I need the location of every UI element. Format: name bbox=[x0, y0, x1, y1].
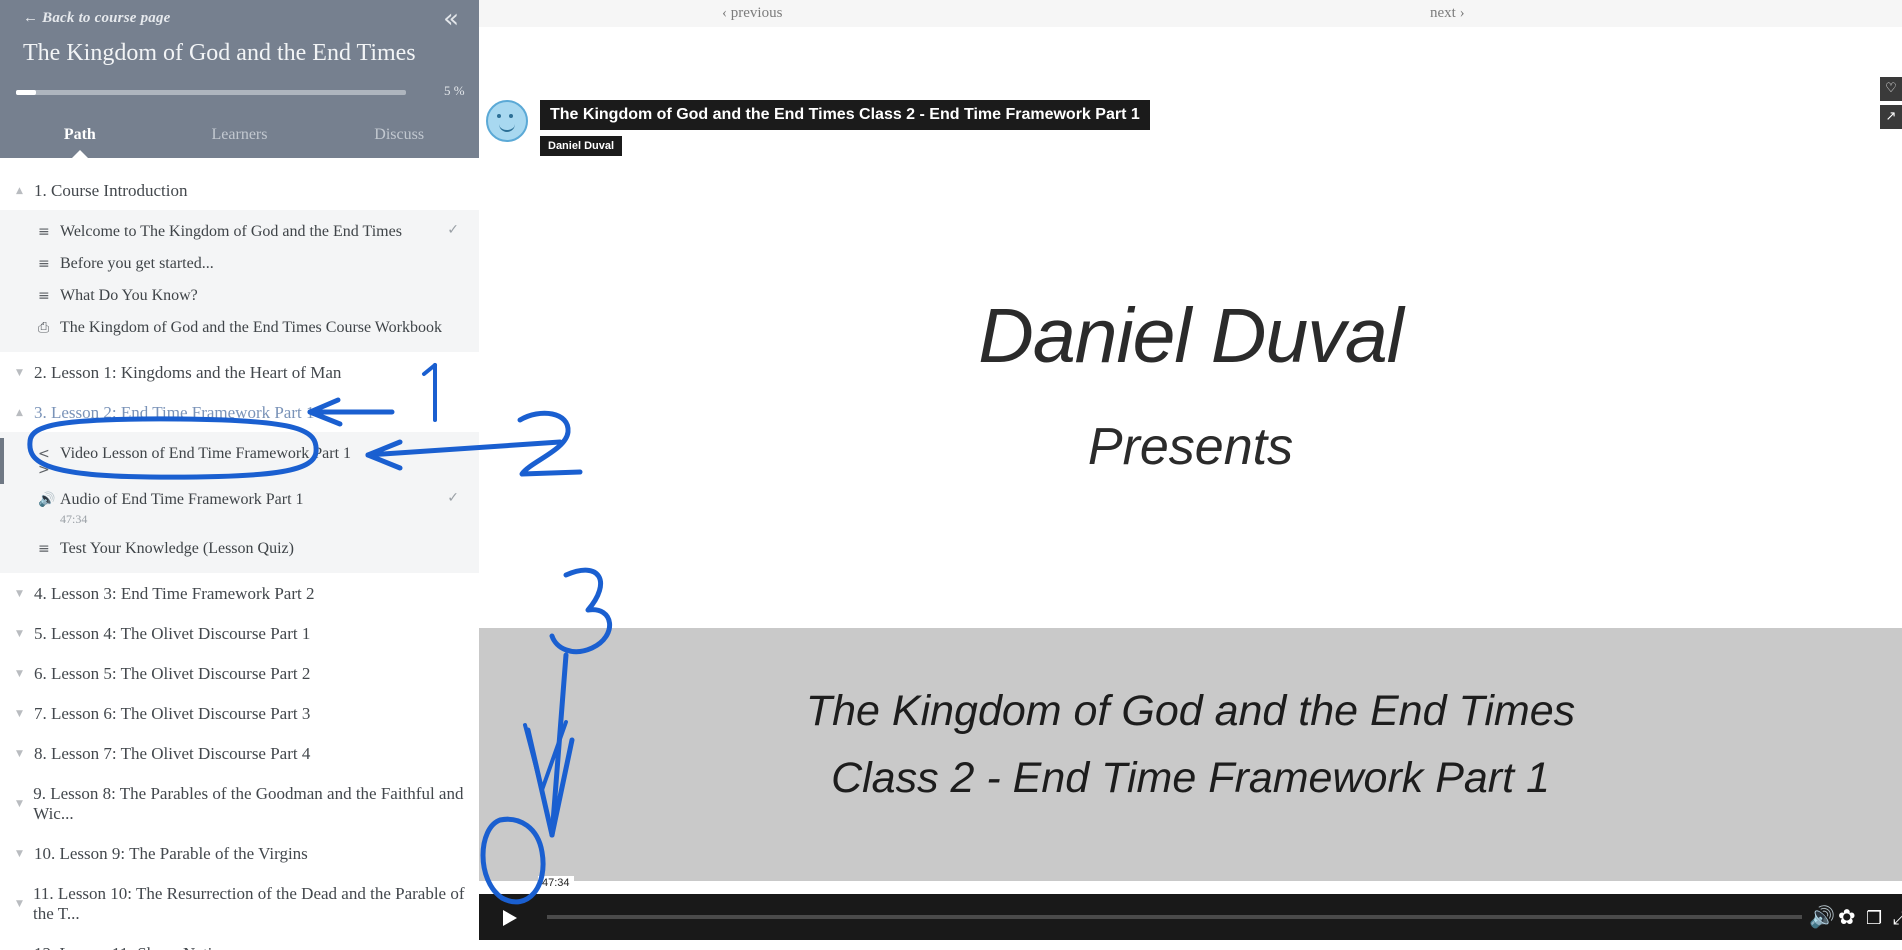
sidebar-header: ← Back to course page « The Kingdom of G… bbox=[0, 0, 479, 158]
audio-icon: 🔊 bbox=[38, 492, 60, 508]
completed-check-icon: ✓ bbox=[447, 490, 459, 506]
lesson-body: The Kingdom of God and the End Times Cou… bbox=[60, 318, 469, 338]
fullscreen-icon[interactable]: ⤢ bbox=[1893, 907, 1902, 931]
slide-title-line-1: The Kingdom of God and the End Times bbox=[479, 687, 1902, 736]
course-section: ▼11. Lesson 10: The Resurrection of the … bbox=[0, 875, 479, 933]
course-section: ▼5. Lesson 4: The Olivet Discourse Part … bbox=[0, 615, 479, 653]
chevron-down-icon[interactable]: ▼ bbox=[16, 630, 29, 639]
slide-title-line-2: Class 2 - End Time Framework Part 1 bbox=[479, 754, 1902, 803]
section-title: 10. Lesson 9: The Parable of the Virgins bbox=[34, 844, 308, 864]
lesson-item[interactable]: ≡Before you get started... bbox=[0, 248, 479, 280]
section-header[interactable]: ▼6. Lesson 5: The Olivet Discourse Part … bbox=[0, 655, 479, 693]
section-title: 9. Lesson 8: The Parables of the Goodman… bbox=[33, 784, 479, 824]
section-title: 6. Lesson 5: The Olivet Discourse Part 2 bbox=[34, 664, 310, 684]
course-section: ▼4. Lesson 3: End Time Framework Part 2 bbox=[0, 575, 479, 613]
lesson-title: What Do You Know? bbox=[60, 286, 469, 306]
lesson-body: What Do You Know? bbox=[60, 286, 469, 306]
video-title-overlay: The Kingdom of God and the End Times Cla… bbox=[486, 100, 1150, 156]
chevron-up-icon[interactable]: ▲ bbox=[16, 187, 29, 196]
section-title: 12. Lesson 11: Sheep Nations bbox=[34, 944, 236, 950]
lesson-body: Welcome to The Kingdom of God and the En… bbox=[60, 222, 469, 242]
page-title: The Kingdom of God and the End Times bbox=[23, 40, 429, 67]
tab-learners[interactable]: Learners bbox=[160, 126, 320, 146]
section-title: 7. Lesson 6: The Olivet Discourse Part 3 bbox=[34, 704, 310, 724]
presenter-subtitle-text: Presents bbox=[479, 417, 1902, 477]
video-player[interactable]: Daniel Duval Presents The Kingdom of God… bbox=[479, 27, 1902, 950]
section-header[interactable]: ▼4. Lesson 3: End Time Framework Part 2 bbox=[0, 575, 479, 613]
previous-lesson-link[interactable]: ‹ previous bbox=[722, 5, 782, 22]
lesson-title: Before you get started... bbox=[60, 254, 469, 274]
video-overlay-author[interactable]: Daniel Duval bbox=[540, 136, 622, 156]
lesson-list: < >Video Lesson of End Time Framework Pa… bbox=[0, 432, 479, 573]
lesson-body: Before you get started... bbox=[60, 254, 469, 274]
lesson-body: Video Lesson of End Time Framework Part … bbox=[60, 444, 469, 464]
section-header[interactable]: ▲1. Course Introduction bbox=[0, 172, 479, 210]
chevron-down-icon[interactable]: ▼ bbox=[16, 590, 29, 599]
course-section: ▲3. Lesson 2: End Time Framework Part 1<… bbox=[0, 394, 479, 573]
section-title: 2. Lesson 1: Kingdoms and the Heart of M… bbox=[34, 363, 341, 383]
course-outline[interactable]: ▲1. Course Introduction≡Welcome to The K… bbox=[0, 158, 479, 950]
chevron-down-icon[interactable]: ▼ bbox=[16, 670, 29, 679]
course-section: ▲1. Course Introduction≡Welcome to The K… bbox=[0, 172, 479, 352]
lesson-item[interactable]: < >Video Lesson of End Time Framework Pa… bbox=[0, 438, 479, 484]
picture-in-picture-icon[interactable]: ❐ bbox=[1866, 907, 1882, 931]
lesson-item[interactable]: ≡Test Your Knowledge (Lesson Quiz) bbox=[0, 533, 479, 565]
lesson-navigation-bar: ‹ previous next › bbox=[479, 0, 1902, 28]
list-icon: ≡ bbox=[38, 224, 60, 240]
lesson-item[interactable]: ≡Welcome to The Kingdom of God and the E… bbox=[0, 216, 479, 248]
section-title: 11. Lesson 10: The Resurrection of the D… bbox=[33, 884, 479, 924]
section-header[interactable]: ▼8. Lesson 7: The Olivet Discourse Part … bbox=[0, 735, 479, 773]
video-controls-bar: 47:34 🔊 ✿ ❐ ⤢ vimeo bbox=[479, 894, 1902, 940]
presenter-name-text: Daniel Duval bbox=[479, 292, 1902, 381]
avatar bbox=[486, 100, 528, 142]
video-overlay-title[interactable]: The Kingdom of God and the End Times Cla… bbox=[540, 100, 1150, 130]
section-header[interactable]: ▼5. Lesson 4: The Olivet Discourse Part … bbox=[0, 615, 479, 653]
lesson-title: Test Your Knowledge (Lesson Quiz) bbox=[60, 539, 469, 559]
lesson-title: Video Lesson of End Time Framework Part … bbox=[60, 444, 469, 464]
lesson-item[interactable]: ⎙The Kingdom of God and the End Times Co… bbox=[0, 312, 479, 344]
collapse-sidebar-icon[interactable]: « bbox=[443, 6, 459, 32]
time-tooltip: 47:34 bbox=[538, 876, 574, 890]
lesson-title: The Kingdom of God and the End Times Cou… bbox=[60, 318, 469, 338]
course-sidebar: ← Back to course page « The Kingdom of G… bbox=[0, 0, 479, 950]
chevron-down-icon[interactable]: ▼ bbox=[16, 710, 29, 719]
section-header[interactable]: ▼10. Lesson 9: The Parable of the Virgin… bbox=[0, 835, 479, 873]
course-section: ▼9. Lesson 8: The Parables of the Goodma… bbox=[0, 775, 479, 833]
section-title: 8. Lesson 7: The Olivet Discourse Part 4 bbox=[34, 744, 310, 764]
lesson-list: ≡Welcome to The Kingdom of God and the E… bbox=[0, 210, 479, 352]
section-title: 4. Lesson 3: End Time Framework Part 2 bbox=[34, 584, 315, 604]
course-section: ▼7. Lesson 6: The Olivet Discourse Part … bbox=[0, 695, 479, 733]
like-button[interactable]: ♡ bbox=[1880, 77, 1902, 101]
lesson-duration: 47:34 bbox=[60, 512, 469, 527]
course-section: ▼8. Lesson 7: The Olivet Discourse Part … bbox=[0, 735, 479, 773]
list-icon: ≡ bbox=[38, 256, 60, 272]
seek-bar[interactable] bbox=[547, 915, 1802, 919]
chevron-down-icon[interactable]: ▼ bbox=[16, 750, 29, 759]
lesson-title: Welcome to The Kingdom of God and the En… bbox=[60, 222, 469, 242]
lesson-body: Test Your Knowledge (Lesson Quiz) bbox=[60, 539, 469, 559]
lesson-item[interactable]: ≡What Do You Know? bbox=[0, 280, 479, 312]
section-title: 1. Course Introduction bbox=[34, 181, 187, 201]
chevron-up-icon[interactable]: ▲ bbox=[16, 409, 29, 418]
pdf-icon: ⎙ bbox=[38, 320, 60, 336]
chevron-down-icon[interactable]: ▼ bbox=[16, 900, 28, 909]
next-lesson-link[interactable]: next › bbox=[1430, 5, 1465, 22]
play-icon bbox=[503, 910, 517, 926]
course-section: ▼12. Lesson 11: Sheep Nations bbox=[0, 935, 479, 950]
chevron-down-icon[interactable]: ▼ bbox=[16, 800, 28, 809]
back-to-course-link[interactable]: ← Back to course page bbox=[23, 10, 171, 27]
section-header[interactable]: ▼2. Lesson 1: Kingdoms and the Heart of … bbox=[0, 354, 479, 392]
section-header[interactable]: ▼7. Lesson 6: The Olivet Discourse Part … bbox=[0, 695, 479, 733]
lesson-title: Audio of End Time Framework Part 1 bbox=[60, 490, 469, 510]
code-icon: < > bbox=[38, 446, 60, 478]
share-button[interactable]: ↗ bbox=[1880, 105, 1902, 129]
sidebar-tabs: PathLearnersDiscuss bbox=[0, 114, 479, 158]
play-button[interactable] bbox=[479, 894, 541, 940]
tab-path[interactable]: Path bbox=[0, 126, 160, 146]
course-section: ▼2. Lesson 1: Kingdoms and the Heart of … bbox=[0, 354, 479, 392]
section-header[interactable]: ▼12. Lesson 11: Sheep Nations bbox=[0, 935, 479, 950]
chevron-down-icon[interactable]: ▼ bbox=[16, 369, 29, 378]
progress-bar bbox=[16, 90, 406, 95]
chevron-down-icon[interactable]: ▼ bbox=[16, 850, 29, 859]
section-header[interactable]: ▲3. Lesson 2: End Time Framework Part 1 bbox=[0, 394, 479, 432]
progress-bar-fill bbox=[16, 90, 36, 95]
section-title: 3. Lesson 2: End Time Framework Part 1 bbox=[34, 403, 315, 423]
section-header[interactable]: ▼9. Lesson 8: The Parables of the Goodma… bbox=[0, 775, 479, 833]
course-section: ▼6. Lesson 5: The Olivet Discourse Part … bbox=[0, 655, 479, 693]
section-header[interactable]: ▼11. Lesson 10: The Resurrection of the … bbox=[0, 875, 479, 933]
gear-icon[interactable]: ✿ bbox=[1838, 905, 1856, 929]
progress-percent-label: 5 % bbox=[444, 83, 465, 99]
lesson-item[interactable]: 🔊Audio of End Time Framework Part 147:34… bbox=[0, 484, 479, 533]
tab-discuss[interactable]: Discuss bbox=[319, 126, 479, 146]
volume-icon[interactable]: 🔊 bbox=[1809, 905, 1835, 929]
lesson-body: Audio of End Time Framework Part 147:34 bbox=[60, 490, 469, 527]
course-section: ▼10. Lesson 9: The Parable of the Virgin… bbox=[0, 835, 479, 873]
completed-check-icon: ✓ bbox=[447, 222, 459, 238]
list-icon: ≡ bbox=[38, 288, 60, 304]
section-title: 5. Lesson 4: The Olivet Discourse Part 1 bbox=[34, 624, 310, 644]
list-icon: ≡ bbox=[38, 541, 60, 557]
